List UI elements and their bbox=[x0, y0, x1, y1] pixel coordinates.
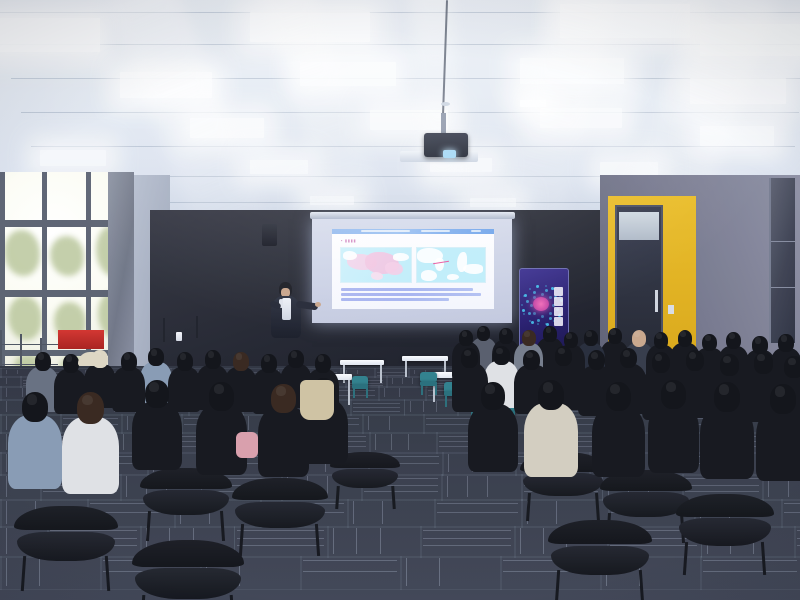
carpet-striation bbox=[17, 370, 18, 374]
carpet-striation bbox=[391, 434, 392, 450]
audience-torso bbox=[524, 403, 578, 477]
desk-leg bbox=[380, 365, 382, 383]
carpet-striation bbox=[353, 501, 354, 524]
chair-seat bbox=[143, 490, 229, 515]
banner-ray-dot bbox=[549, 317, 552, 320]
paper-cup bbox=[176, 332, 182, 341]
carpet-striation bbox=[703, 571, 797, 572]
carpet-striation bbox=[356, 528, 357, 554]
carpet-striation bbox=[6, 558, 7, 586]
carpet-striation bbox=[384, 388, 385, 397]
pink-garment bbox=[236, 432, 258, 458]
carpet-striation bbox=[408, 434, 409, 450]
asia-world-map bbox=[340, 247, 412, 283]
carpet-striation bbox=[127, 416, 128, 430]
carpet-striation bbox=[447, 476, 448, 497]
carpet-striation bbox=[353, 411, 401, 412]
banner-ray-dot-outer bbox=[529, 320, 531, 322]
carpet-striation bbox=[392, 378, 393, 384]
audience-torso bbox=[700, 405, 754, 479]
ceiling-light-panel bbox=[540, 108, 622, 128]
carpet-tile bbox=[369, 432, 438, 454]
audience-torso bbox=[592, 405, 645, 478]
teal-chair-back bbox=[420, 372, 437, 381]
audience-member bbox=[524, 380, 578, 484]
ceiling-light-panel bbox=[700, 126, 774, 146]
ceiling-light-panel bbox=[370, 110, 448, 130]
foliage-clump bbox=[50, 236, 84, 276]
screen-roller-housing bbox=[310, 212, 515, 219]
carpet-tile bbox=[327, 526, 422, 558]
chair-seat bbox=[17, 532, 115, 561]
hair-highlight bbox=[781, 335, 787, 341]
hair-highlight bbox=[318, 355, 324, 361]
carpet-striation bbox=[389, 416, 390, 430]
beige-cap bbox=[78, 352, 104, 366]
hair-highlight bbox=[586, 331, 592, 337]
audience-torso bbox=[8, 415, 62, 489]
hair-highlight bbox=[655, 354, 662, 361]
equipment-pole bbox=[196, 316, 198, 338]
audience-member bbox=[648, 380, 699, 479]
banner-ray-dot bbox=[522, 309, 525, 312]
carpet-striation bbox=[6, 476, 7, 497]
carpet-striation bbox=[123, 434, 124, 450]
hair-highlight bbox=[149, 382, 159, 391]
carpet-striation bbox=[353, 403, 401, 404]
carpet-striation bbox=[248, 416, 249, 430]
ceiling-light-panel bbox=[310, 196, 354, 205]
wall-speaker bbox=[262, 224, 277, 246]
window-curtain bbox=[108, 172, 134, 372]
ceiling-light-panel bbox=[470, 198, 516, 207]
carpet-striation bbox=[436, 401, 437, 412]
banner-ray-dot-outer bbox=[521, 304, 523, 306]
carpet-striation bbox=[6, 416, 7, 430]
banner-ray-dot-outer bbox=[537, 285, 539, 287]
carpet-striation bbox=[423, 545, 510, 546]
audience-torso bbox=[62, 417, 119, 495]
carpet-striation bbox=[487, 476, 488, 497]
audience-torso bbox=[132, 402, 182, 470]
red-equipment-case bbox=[58, 330, 104, 349]
carpet-striation bbox=[439, 558, 440, 586]
banner-ray-dot bbox=[545, 289, 548, 292]
carpet-striation bbox=[303, 571, 397, 572]
chair bbox=[14, 506, 118, 578]
carpet-striation bbox=[303, 560, 397, 561]
chair-seat bbox=[679, 518, 771, 545]
hair-highlight bbox=[591, 352, 598, 359]
carpet-striation bbox=[357, 370, 358, 374]
desk-leg bbox=[348, 380, 350, 405]
ceiling-light-panel bbox=[250, 160, 308, 174]
hair-highlight bbox=[82, 395, 93, 406]
door-transom-glass bbox=[619, 212, 659, 240]
carpet-tile bbox=[441, 474, 523, 501]
desk bbox=[340, 360, 384, 365]
carpet-striation bbox=[6, 388, 7, 397]
banner-ray-dot bbox=[537, 319, 540, 322]
chair-backrest bbox=[676, 494, 774, 517]
carpet-striation bbox=[437, 503, 518, 504]
audience-member bbox=[756, 384, 800, 488]
carpet-striation bbox=[448, 454, 449, 472]
audience-member bbox=[132, 380, 182, 476]
shoulder-bag bbox=[300, 380, 334, 420]
chair-backrest bbox=[132, 540, 244, 567]
ceiling-light-panel bbox=[700, 24, 800, 56]
banner-ray-dot bbox=[531, 321, 534, 324]
ceiling-light-panel bbox=[250, 12, 370, 42]
carpet-striation bbox=[402, 378, 403, 384]
ceiling-light-panel bbox=[600, 162, 658, 176]
projected-slide: ▪ ▮▮▮▮ bbox=[332, 229, 494, 309]
carpet-striation bbox=[784, 512, 800, 513]
hair-highlight bbox=[502, 329, 507, 334]
chair-leg bbox=[315, 524, 320, 556]
hair-highlight bbox=[566, 333, 572, 339]
hair-highlight bbox=[680, 331, 686, 337]
banner-ray-dot-outer bbox=[523, 313, 525, 315]
door-handle[interactable] bbox=[655, 290, 658, 312]
hair-highlight bbox=[755, 337, 761, 343]
ceiling-cross-line bbox=[31, 146, 795, 147]
audience-torso bbox=[258, 406, 309, 476]
carpet-striation bbox=[6, 370, 7, 374]
carpet-striation bbox=[406, 558, 407, 586]
ceiling-light-panel bbox=[40, 150, 106, 166]
audience-torso bbox=[756, 407, 800, 481]
carpet-striation bbox=[410, 401, 411, 412]
audience-member bbox=[8, 392, 62, 496]
hair-highlight bbox=[723, 356, 730, 363]
chair-leg bbox=[140, 595, 145, 600]
carpet-striation bbox=[399, 388, 400, 397]
hair-highlight bbox=[788, 358, 796, 366]
ceiling-light-panel bbox=[520, 58, 624, 84]
banner-ray-dot bbox=[549, 296, 552, 299]
hair-highlight bbox=[729, 333, 735, 339]
chair bbox=[132, 540, 244, 600]
banner-ray-dot-outer bbox=[523, 295, 525, 297]
chair-backrest bbox=[14, 506, 118, 530]
slide-heading: ▪ ▮▮▮▮ bbox=[341, 238, 356, 243]
ceiling-light-panel bbox=[120, 72, 212, 98]
teal-chair-leg bbox=[353, 388, 355, 398]
chair-leg bbox=[761, 542, 766, 575]
banner-ray-dot bbox=[541, 315, 544, 318]
carpet-striation bbox=[467, 476, 468, 497]
carpet-striation bbox=[423, 538, 510, 539]
carpet-striation bbox=[685, 491, 759, 492]
ceiling-light-panel bbox=[560, 4, 690, 38]
banner-ray-dot-outer bbox=[545, 285, 547, 287]
carpet-striation bbox=[6, 501, 7, 524]
banner-vertical-text bbox=[553, 287, 564, 326]
ceiling-light-panel bbox=[300, 62, 396, 86]
hair-highlight bbox=[479, 327, 484, 332]
teal-chair-leg bbox=[421, 385, 423, 395]
chair-seat bbox=[235, 502, 325, 528]
audience-member bbox=[62, 392, 119, 501]
chair-seat bbox=[135, 568, 240, 599]
lecture-hall-photo: ▪ ▮▮▮▮ bbox=[0, 0, 800, 600]
chair bbox=[548, 520, 652, 592]
audience-torso bbox=[468, 404, 518, 472]
hair-highlight bbox=[276, 386, 286, 396]
hair-highlight bbox=[623, 350, 630, 357]
hair-highlight bbox=[236, 353, 242, 359]
carpet-striation bbox=[380, 528, 381, 554]
hair-highlight bbox=[719, 384, 729, 394]
chair-seat bbox=[551, 546, 649, 575]
hair-highlight bbox=[610, 329, 616, 335]
hair-highlight bbox=[66, 355, 72, 361]
hair-highlight bbox=[485, 384, 495, 393]
smoke-detector-icon bbox=[441, 102, 450, 106]
chair-backrest bbox=[548, 520, 652, 544]
carpet-striation bbox=[6, 378, 7, 384]
hair-highlight bbox=[208, 351, 214, 357]
carpet-striation bbox=[414, 370, 415, 374]
banner-core-graphic bbox=[533, 297, 549, 311]
hair-highlight bbox=[543, 382, 553, 392]
chair bbox=[232, 478, 328, 544]
banner-ray-dot bbox=[549, 312, 552, 315]
hair-highlight bbox=[264, 355, 270, 361]
carpet-striation bbox=[6, 434, 7, 450]
hair-highlight bbox=[666, 382, 676, 392]
ceiling-cross-line bbox=[0, 44, 800, 45]
ceiling-light-panel bbox=[690, 78, 786, 104]
teal-chair-leg bbox=[445, 396, 447, 407]
hair-highlight bbox=[546, 327, 551, 332]
hair-highlight bbox=[496, 348, 503, 355]
carpet-tile bbox=[400, 556, 502, 590]
carpet-striation bbox=[6, 401, 7, 412]
banner-ray-dot-outer bbox=[529, 288, 531, 290]
carpet-striation bbox=[520, 528, 521, 554]
slide-title-bar bbox=[332, 229, 494, 234]
carpet-striation bbox=[784, 503, 800, 504]
hair-highlight bbox=[27, 394, 37, 404]
carpet-striation bbox=[375, 434, 376, 450]
hair-highlight bbox=[524, 331, 530, 337]
teal-chair-leg bbox=[366, 388, 368, 398]
chair bbox=[676, 494, 774, 562]
hair-highlight bbox=[656, 333, 662, 339]
carpet-striation bbox=[368, 416, 369, 430]
audience-member bbox=[592, 382, 645, 484]
light-switch-plate[interactable] bbox=[668, 305, 674, 314]
hair-highlight bbox=[291, 351, 297, 357]
banner-ray-dot bbox=[533, 291, 536, 294]
wall-cabinet bbox=[769, 178, 795, 343]
carpet-striation bbox=[437, 512, 518, 513]
hair-highlight bbox=[775, 386, 785, 396]
banner-ray-dot bbox=[526, 300, 529, 303]
hair-highlight bbox=[689, 352, 696, 359]
hair-highlight bbox=[214, 384, 224, 394]
audience-torso bbox=[648, 402, 699, 472]
teal-chair-leg bbox=[435, 385, 437, 395]
carpet-striation bbox=[423, 530, 510, 531]
hair-highlight bbox=[757, 354, 764, 361]
carpet-striation bbox=[412, 378, 413, 384]
mic-stand bbox=[163, 318, 165, 342]
hair-highlight bbox=[462, 331, 467, 336]
projector-lens-icon bbox=[443, 150, 456, 158]
carpet-striation bbox=[237, 545, 324, 546]
desk-leg bbox=[405, 361, 407, 377]
banner-ray-dot bbox=[528, 312, 531, 315]
ceiling-light-strip bbox=[520, 100, 546, 107]
hair-highlight bbox=[151, 349, 157, 355]
projector-cable bbox=[442, 0, 448, 116]
carpet-striation bbox=[382, 501, 383, 524]
carpet-striation bbox=[333, 528, 334, 554]
carpet-striation bbox=[126, 476, 127, 497]
banner-ray-dot bbox=[533, 312, 536, 315]
carpet-striation bbox=[6, 528, 7, 554]
desk bbox=[402, 356, 448, 361]
presenter bbox=[262, 282, 320, 344]
carpet-striation bbox=[6, 454, 7, 472]
ceiling-light-panel bbox=[0, 18, 100, 52]
carpet-striation bbox=[353, 407, 401, 408]
presenter-shirt bbox=[282, 298, 291, 320]
chair-seat bbox=[332, 469, 398, 488]
chair-leg bbox=[229, 595, 234, 600]
hair-highlight bbox=[634, 331, 640, 337]
audience-member bbox=[700, 382, 754, 486]
hair-highlight bbox=[124, 353, 130, 359]
hair-highlight bbox=[705, 335, 711, 341]
presenter-hand bbox=[315, 302, 321, 307]
east-asia-map bbox=[416, 247, 486, 283]
carpet-tile bbox=[300, 556, 402, 590]
banner-ray-dot bbox=[541, 293, 544, 296]
pull-down-projection-screen: ▪ ▮▮▮▮ bbox=[312, 219, 512, 323]
audience-member bbox=[468, 382, 518, 478]
hair-highlight bbox=[180, 353, 186, 359]
projector-mount-pole bbox=[441, 113, 446, 135]
ceiling-light-panel bbox=[190, 118, 264, 138]
foliage-clump bbox=[4, 230, 40, 276]
carpet-striation bbox=[543, 528, 544, 554]
hair-highlight bbox=[38, 353, 44, 359]
carpet-striation bbox=[423, 401, 424, 412]
